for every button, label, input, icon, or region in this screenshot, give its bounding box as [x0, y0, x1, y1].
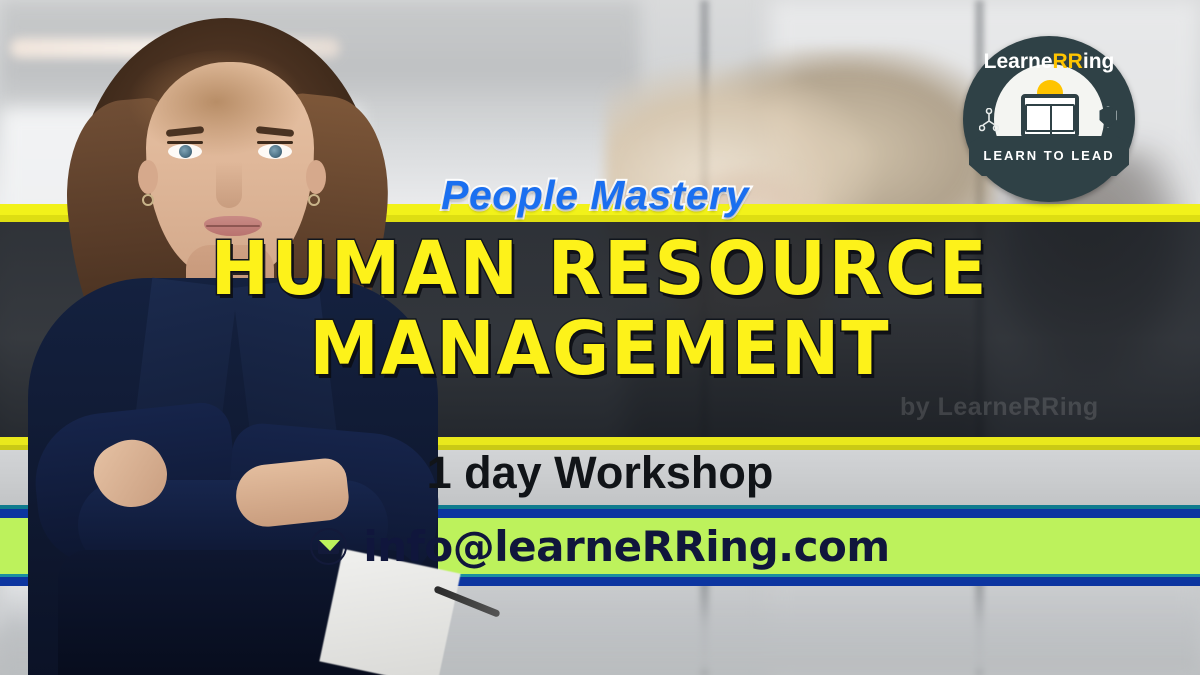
- iris-left: [179, 145, 192, 158]
- headline-line-1: HUMAN RESOURCE: [36, 226, 1164, 312]
- email-address[interactable]: info@learneRRing.com: [363, 522, 889, 571]
- eyelash-right: [257, 141, 293, 144]
- network-node-icon: [979, 108, 999, 132]
- iris-right: [269, 145, 282, 158]
- eye-right: [258, 144, 292, 159]
- headline-line-2: MANAGEMENT: [36, 306, 1164, 392]
- promo-poster: LearneRRing LEARN TO LEAD People Mastery…: [0, 0, 1200, 675]
- logo-tagline: LEARN TO LEAD: [969, 136, 1129, 176]
- logo-name-part1: Learne: [984, 50, 1053, 73]
- email-row[interactable]: info@learneRRing.com: [0, 518, 1200, 574]
- watermark-text: by LearneRRing: [900, 393, 1160, 422]
- open-book-icon: [1025, 104, 1075, 132]
- logo-name-accent: RR: [1053, 50, 1083, 73]
- logo-name-part2: ing: [1083, 50, 1115, 73]
- logo-tagline-banner: LEARN TO LEAD: [969, 136, 1129, 176]
- envelope-glyph: [318, 539, 339, 554]
- kicker-wrap: People Mastery: [0, 172, 1200, 219]
- subtitle-wrap: 1 day Workshop: [0, 447, 1200, 499]
- eyelash-left: [167, 141, 203, 144]
- envelope-icon: [310, 528, 347, 565]
- eye-left: [168, 144, 202, 159]
- headline-wrap: HUMAN RESOURCE MANAGEMENT: [0, 226, 1200, 392]
- kicker-text: People Mastery: [441, 172, 749, 218]
- logo-wordmark: LearneRRing: [963, 50, 1135, 74]
- subtitle-text: 1 day Workshop: [427, 447, 774, 498]
